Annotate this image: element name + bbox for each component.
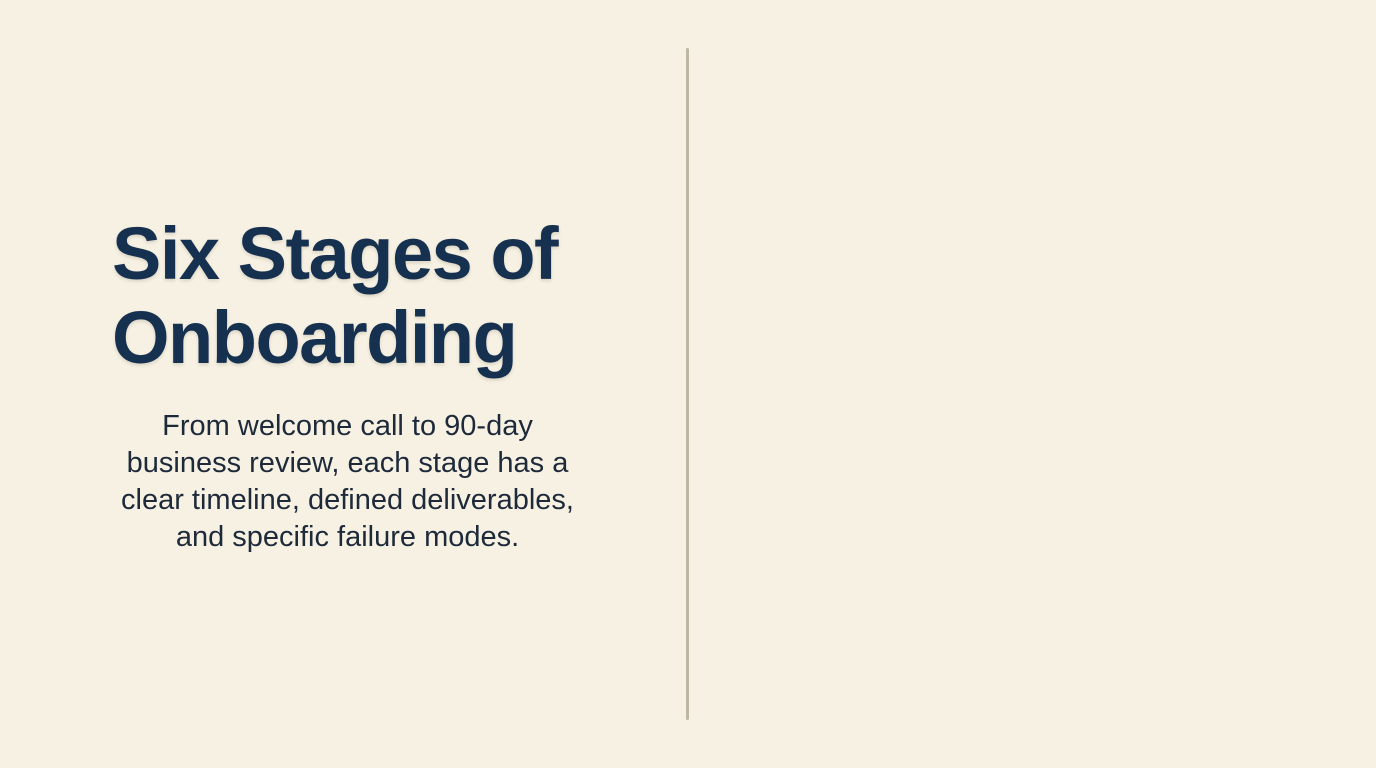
- page-subtitle: From welcome call to 90-day business rev…: [120, 408, 575, 556]
- left-panel: Six Stages of Onboarding From welcome ca…: [0, 0, 688, 768]
- timeline-panel: (1) Welcome Days 1-7 (2) Implementation …: [688, 0, 1376, 768]
- page-title: Six Stages of Onboarding: [112, 212, 632, 380]
- slide-canvas: Six Stages of Onboarding From welcome ca…: [0, 0, 1376, 768]
